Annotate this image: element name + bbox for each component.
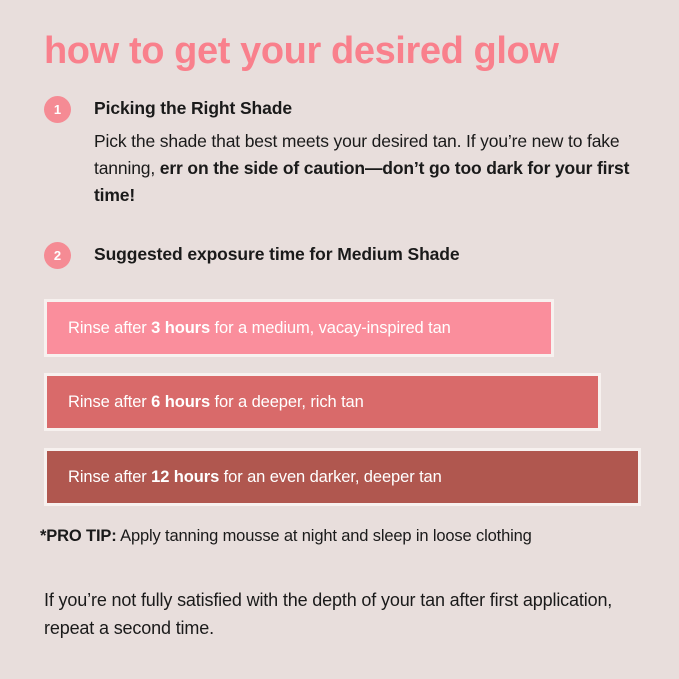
exposure-bar-6-hours-duration: 6 hours <box>151 393 210 411</box>
exposure-bar-3-hours-lead: Rinse after <box>68 319 151 337</box>
step-number-badge-1: 1 <box>44 96 71 123</box>
exposure-bar-3-hours: Rinse after 3 hours for a medium, vacay-… <box>44 299 554 357</box>
step-body-2: Suggested exposure time for Medium Shade <box>94 242 639 267</box>
step-number-badge-2: 2 <box>44 242 71 269</box>
exposure-bar-3-hours-duration: 3 hours <box>151 319 210 337</box>
infographic-page: how to get your desired glow 1 Picking t… <box>0 0 679 679</box>
step-item-1: 1 Picking the Right Shade Pick the shade… <box>44 96 639 208</box>
step-heading-2: Suggested exposure time for Medium Shade <box>94 242 639 267</box>
pro-tip-label: *PRO TIP: <box>40 527 117 545</box>
closing-note: If you’re not fully satisfied with the d… <box>44 587 636 643</box>
step-text-1: Pick the shade that best meets your desi… <box>94 128 639 208</box>
exposure-bar-12-hours-duration: 12 hours <box>151 468 219 486</box>
exposure-bar-6-hours-label: Rinse after 6 hours for a deeper, rich t… <box>47 393 364 412</box>
exposure-bar-12-hours: Rinse after 12 hours for an even darker,… <box>44 448 641 506</box>
pro-tip: *PRO TIP: Apply tanning mousse at night … <box>40 527 532 546</box>
step-body-1: Picking the Right Shade Pick the shade t… <box>94 96 639 208</box>
exposure-bar-3-hours-trail: for a medium, vacay-inspired tan <box>210 319 451 337</box>
exposure-bar-12-hours-trail: for an even darker, deeper tan <box>219 468 442 486</box>
exposure-bar-12-hours-lead: Rinse after <box>68 468 151 486</box>
pro-tip-text: Apply tanning mousse at night and sleep … <box>117 527 532 545</box>
step-text-1-emphasis: err on the side of caution—don’t go too … <box>94 158 629 205</box>
page-title: how to get your desired glow <box>44 31 559 73</box>
exposure-bar-12-hours-label: Rinse after 12 hours for an even darker,… <box>47 468 442 487</box>
step-heading-1: Picking the Right Shade <box>94 96 639 121</box>
exposure-bar-6-hours-trail: for a deeper, rich tan <box>210 393 364 411</box>
exposure-bar-6-hours-lead: Rinse after <box>68 393 151 411</box>
step-item-2: 2 Suggested exposure time for Medium Sha… <box>44 242 639 267</box>
exposure-bar-6-hours: Rinse after 6 hours for a deeper, rich t… <box>44 373 601 431</box>
exposure-bar-3-hours-label: Rinse after 3 hours for a medium, vacay-… <box>47 319 451 338</box>
